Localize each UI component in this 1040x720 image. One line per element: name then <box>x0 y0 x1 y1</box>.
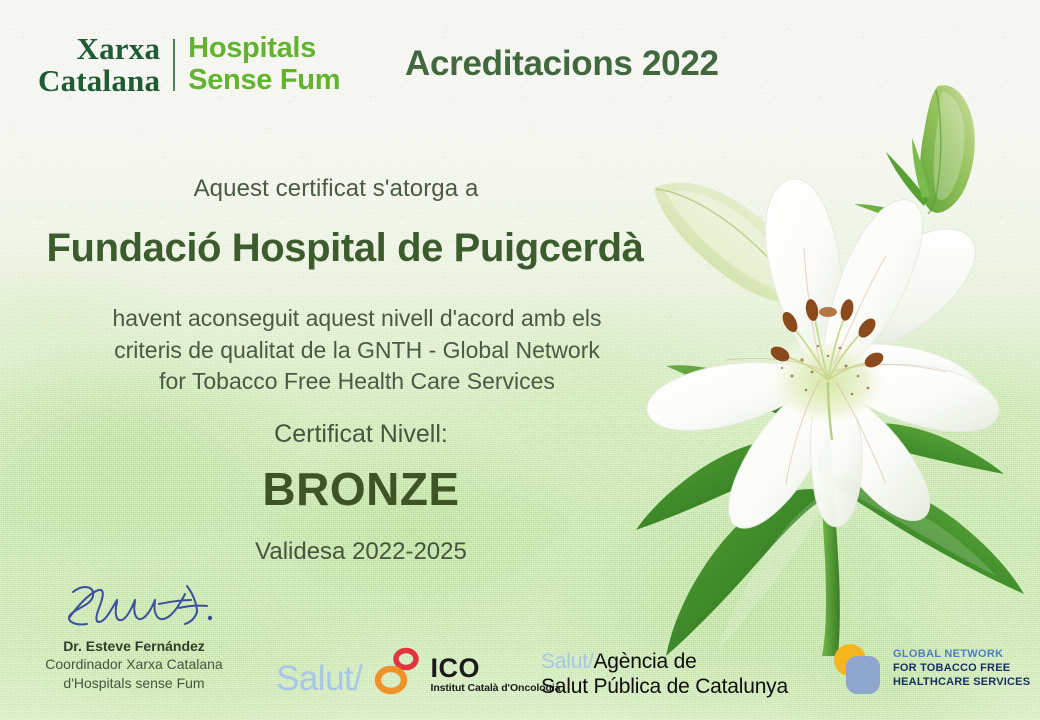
signatory-name: Dr. Esteve Fernández <box>0 638 268 654</box>
logo-hospitals: Hospitals <box>188 33 340 64</box>
page-title: Acreditacions 2022 <box>405 44 719 84</box>
level-label: Certificat Nivell: <box>0 420 722 449</box>
signatory-role-line-2: d'Hospitals sense Fum <box>0 674 268 693</box>
ico-rings-icon <box>365 646 427 696</box>
global-network-wordmark: GLOBAL NETWORK FOR TOBACCO FREE HEALTHCA… <box>893 647 1030 689</box>
global-network-line-1: GLOBAL NETWORK <box>893 647 1030 661</box>
global-network-logo: GLOBAL NETWORK FOR TOBACCO FREE HEALTHCA… <box>828 640 1030 696</box>
validity-period: Validesa 2022-2025 <box>0 538 722 566</box>
ico-logo: Salut/ ICO Institut Català d'Oncologia <box>276 646 560 696</box>
global-network-line-3: HEALTHCARE SERVICES <box>893 675 1030 689</box>
criteria-line-2: criteris de qualitat de la GNTH - Global… <box>0 335 714 367</box>
logo-sense-fum: Sense Fum <box>188 65 340 96</box>
signatory-role-line-1: Coordinador Xarxa Catalana <box>0 655 268 674</box>
aspcat-line-1: Salut/Agència de <box>541 650 788 675</box>
ico-salut-text: Salut/ <box>276 661 363 696</box>
criteria-line-3: for Tobacco Free Health Care Services <box>0 366 714 398</box>
awarded-to-label: Aquest certificat s'atorga a <box>0 175 672 203</box>
logo-left-text: Xarxa Catalana <box>38 33 173 96</box>
logo-divider <box>173 39 175 91</box>
logo-xarxa: Xarxa <box>38 33 160 65</box>
organization-name: Fundació Hospital de Puigcerdà <box>0 226 690 271</box>
global-network-line-2: FOR TOBACCO FREE <box>893 661 1030 675</box>
criteria-line-1: havent aconseguit aquest nivell d'acord … <box>0 303 714 335</box>
level-value-badge: BRONZE <box>0 462 722 516</box>
logo-right-text: Hospitals Sense Fum <box>175 33 340 96</box>
criteria-paragraph: havent aconseguit aquest nivell d'acord … <box>0 303 714 398</box>
global-network-mark-icon <box>828 640 884 696</box>
aspcat-line-2: Salut Pública de Catalunya <box>541 675 788 700</box>
handwritten-signature <box>39 578 229 636</box>
certificate-page: Xarxa Catalana Hospitals Sense Fum Acred… <box>0 0 1040 720</box>
xarxa-catalana-logo: Xarxa Catalana Hospitals Sense Fum <box>38 33 340 96</box>
aspcat-agencia-text: Agència de <box>594 650 697 673</box>
logo-catalana: Catalana <box>38 65 160 97</box>
aspcat-salut-text: Salut/ <box>541 650 594 673</box>
aspcat-logo: Salut/Agència de Salut Pública de Catalu… <box>541 650 788 700</box>
signature-block: Dr. Esteve Fernández Coordinador Xarxa C… <box>0 578 268 693</box>
signatory-role: Coordinador Xarxa Catalana d'Hospitals s… <box>0 655 268 693</box>
